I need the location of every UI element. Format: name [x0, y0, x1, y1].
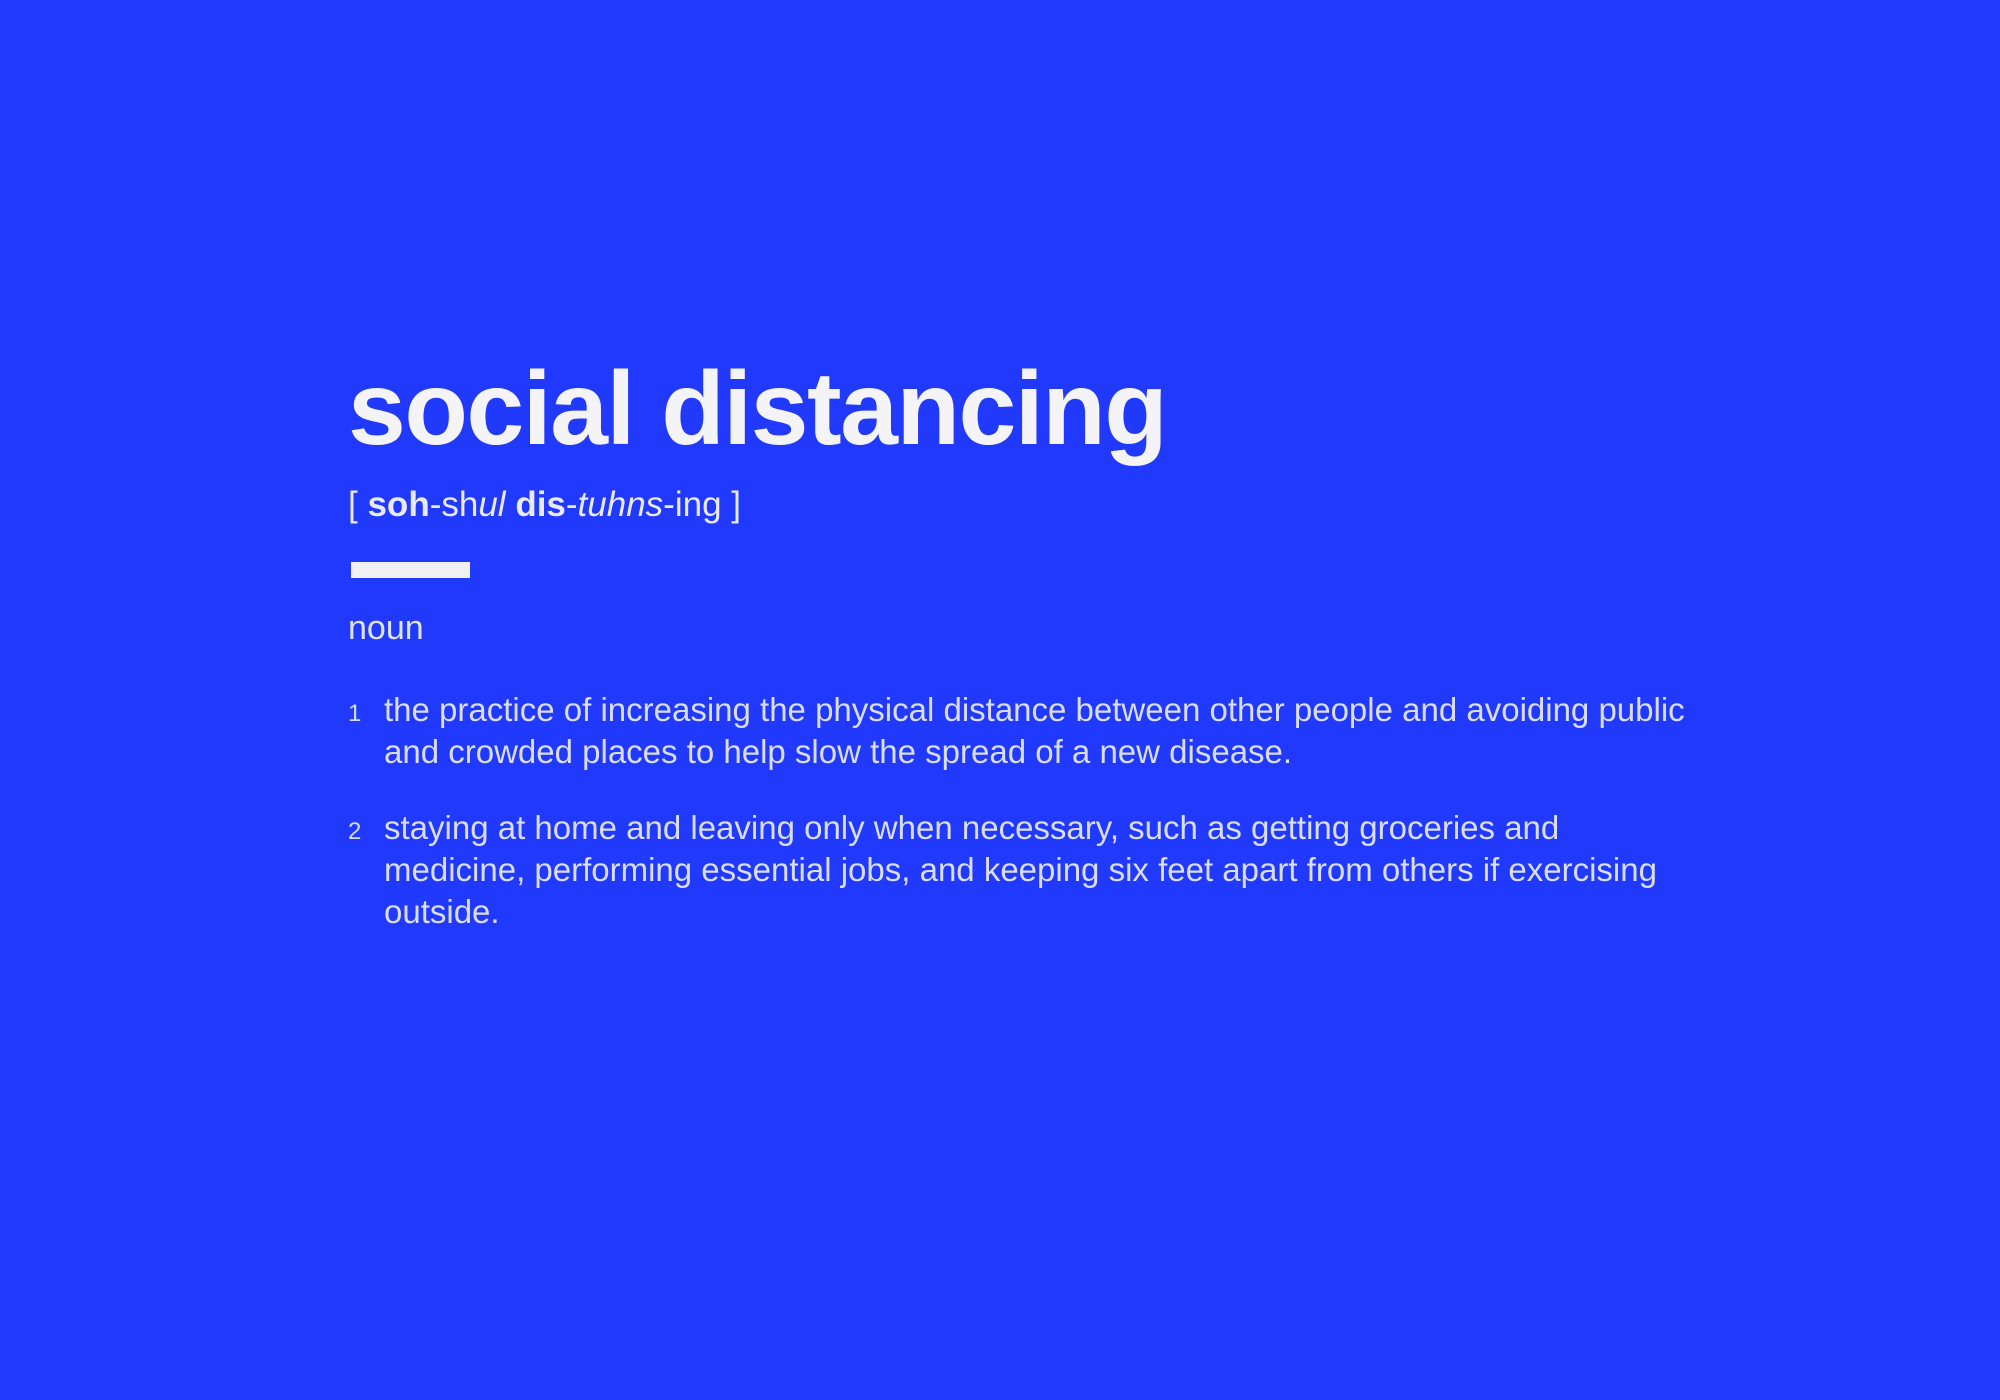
- pronunciation-segment-8: -ing: [663, 485, 721, 524]
- list-item: 1 the practice of increasing the physica…: [348, 689, 1748, 773]
- list-item: 2 staying at home and leaving only when …: [348, 807, 1748, 933]
- definition-number: 1: [348, 689, 384, 735]
- pronunciation-segment-1: soh: [367, 485, 429, 524]
- page-title: social distancing: [348, 355, 1748, 464]
- pronunciation-segment-3: ul: [478, 485, 505, 524]
- pronunciation-segment-5: dis: [515, 485, 566, 524]
- definition-text: the practice of increasing the physical …: [384, 689, 1694, 773]
- definition-number: 2: [348, 807, 384, 853]
- pronunciation-segment-6: -: [566, 485, 578, 524]
- pronunciation-segment-7: tuhns: [578, 485, 664, 524]
- section-divider-rule: [351, 562, 470, 578]
- definition-list: 1 the practice of increasing the physica…: [348, 689, 1748, 933]
- dictionary-entry-page: social distancing [ soh-shul dis-tuhns-i…: [0, 0, 2000, 1400]
- dictionary-entry: social distancing [ soh-shul dis-tuhns-i…: [348, 355, 1748, 967]
- pronunciation-line: [ soh-shul dis-tuhns-ing ]: [348, 484, 1748, 526]
- pronunciation-open-bracket: [: [348, 485, 358, 524]
- pronunciation-close-bracket: ]: [731, 485, 741, 524]
- pronunciation-segment-4: [506, 485, 516, 524]
- part-of-speech-label: noun: [348, 608, 1748, 649]
- pronunciation-segment-2: -sh: [430, 485, 479, 524]
- definition-text: staying at home and leaving only when ne…: [384, 807, 1694, 933]
